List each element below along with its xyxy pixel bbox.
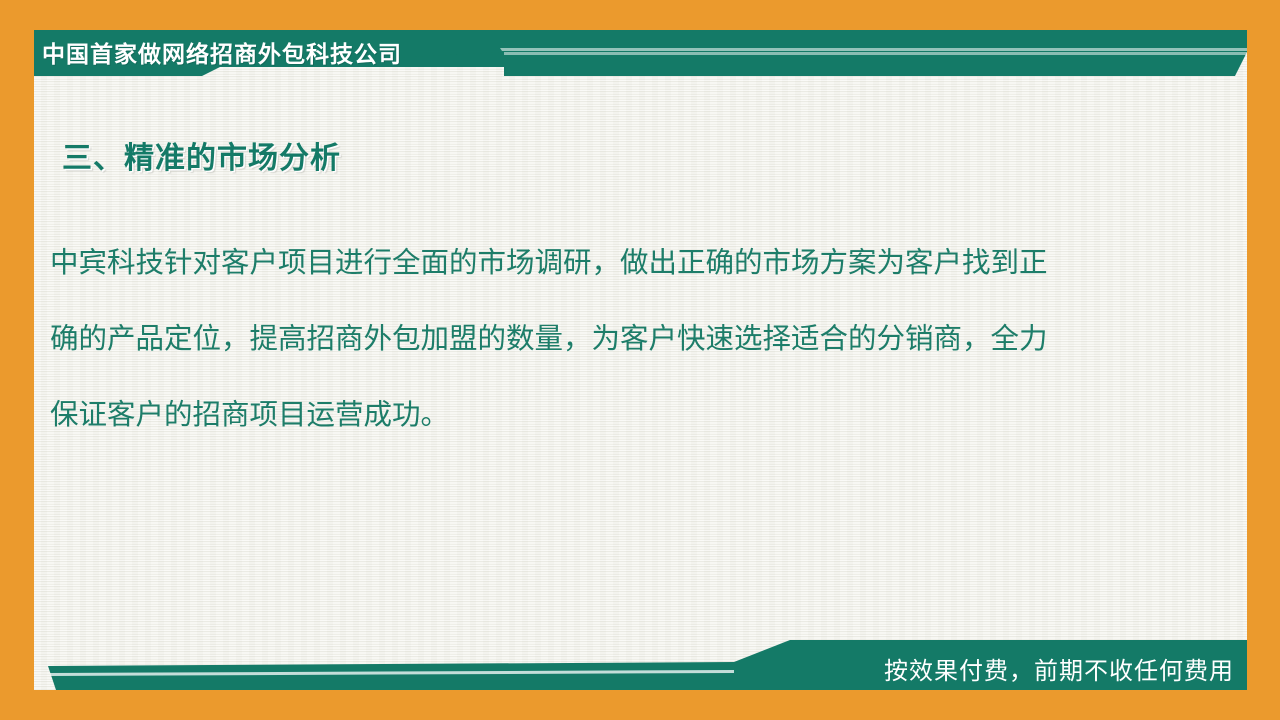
header-company-title: 中国首家做网络招商外包科技公司 [42,31,402,73]
header-band: 中国首家做网络招商外包科技公司 [34,30,1247,76]
slide-canvas: 中国首家做网络招商外包科技公司 三、精准的市场分析 中宾科技针对客户项目进行全面… [0,0,1280,720]
body-line-1: 中宾科技针对客户项目进行全面的市场调研，做出正确的市场方案为客户找到正 [50,225,1185,301]
body-paragraph: 中宾科技针对客户项目进行全面的市场调研，做出正确的市场方案为客户找到正 确的产品… [50,225,1185,453]
footer-riser [734,640,790,690]
footer-band: 按效果付费，前期不收任何费用 [34,640,1247,690]
footer-left-bar [48,662,734,690]
body-line-2: 确的产品定位，提高招商外包加盟的数量，为客户快速选择适合的分销商，全力 [50,301,1185,377]
footer-tagline: 按效果付费，前期不收任何费用 [884,651,1234,686]
section-title: 三、精准的市场分析 [62,133,341,177]
header-hairline [500,48,1247,51]
body-line-3: 保证客户的招商项目运营成功。 [50,377,1185,453]
header-hairline-2 [504,52,1247,55]
